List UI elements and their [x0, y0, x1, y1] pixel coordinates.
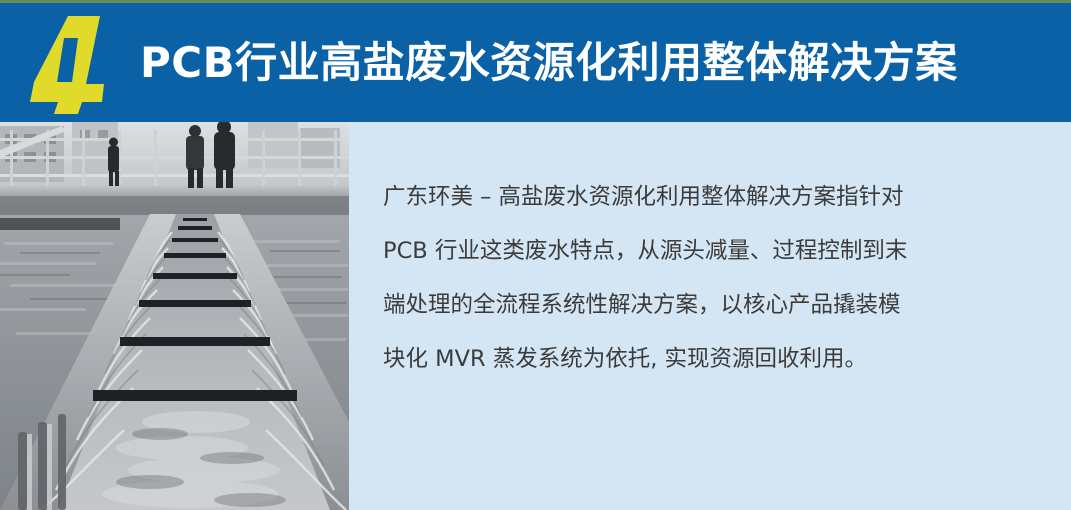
slide-root: 4 PCB行业高盐废水资源化利用整体解决方案: [0, 0, 1071, 510]
page-title: PCB行业高盐废水资源化利用整体解决方案: [140, 30, 1040, 96]
header-bar: 4 PCB行业高盐废水资源化利用整体解决方案: [0, 0, 1071, 122]
numeral-four-icon: [28, 14, 124, 114]
wastewater-treatment-photo-illustration: [0, 122, 349, 510]
description-text: 广东环美 – 高盐废水资源化利用整体解决方案指针对 PCB 行业这类废水特点，从…: [383, 170, 1033, 386]
description-panel: 广东环美 – 高盐废水资源化利用整体解决方案指针对 PCB 行业这类废水特点，从…: [349, 122, 1071, 510]
description-line-1: 广东环美 – 高盐废水资源化利用整体解决方案指针对: [383, 170, 1033, 224]
header-top-accent-line: [0, 0, 1071, 3]
section-number-badge: 4: [28, 14, 124, 114]
description-line-4: 块化 MVR 蒸发系统为依托, 实现资源回收利用。: [383, 332, 1033, 386]
hero-photo: [0, 122, 349, 510]
description-line-3: 端处理的全流程系统性解决方案，以核心产品撬装模: [383, 278, 1033, 332]
description-line-2: PCB 行业这类废水特点，从源头减量、过程控制到末: [383, 224, 1033, 278]
